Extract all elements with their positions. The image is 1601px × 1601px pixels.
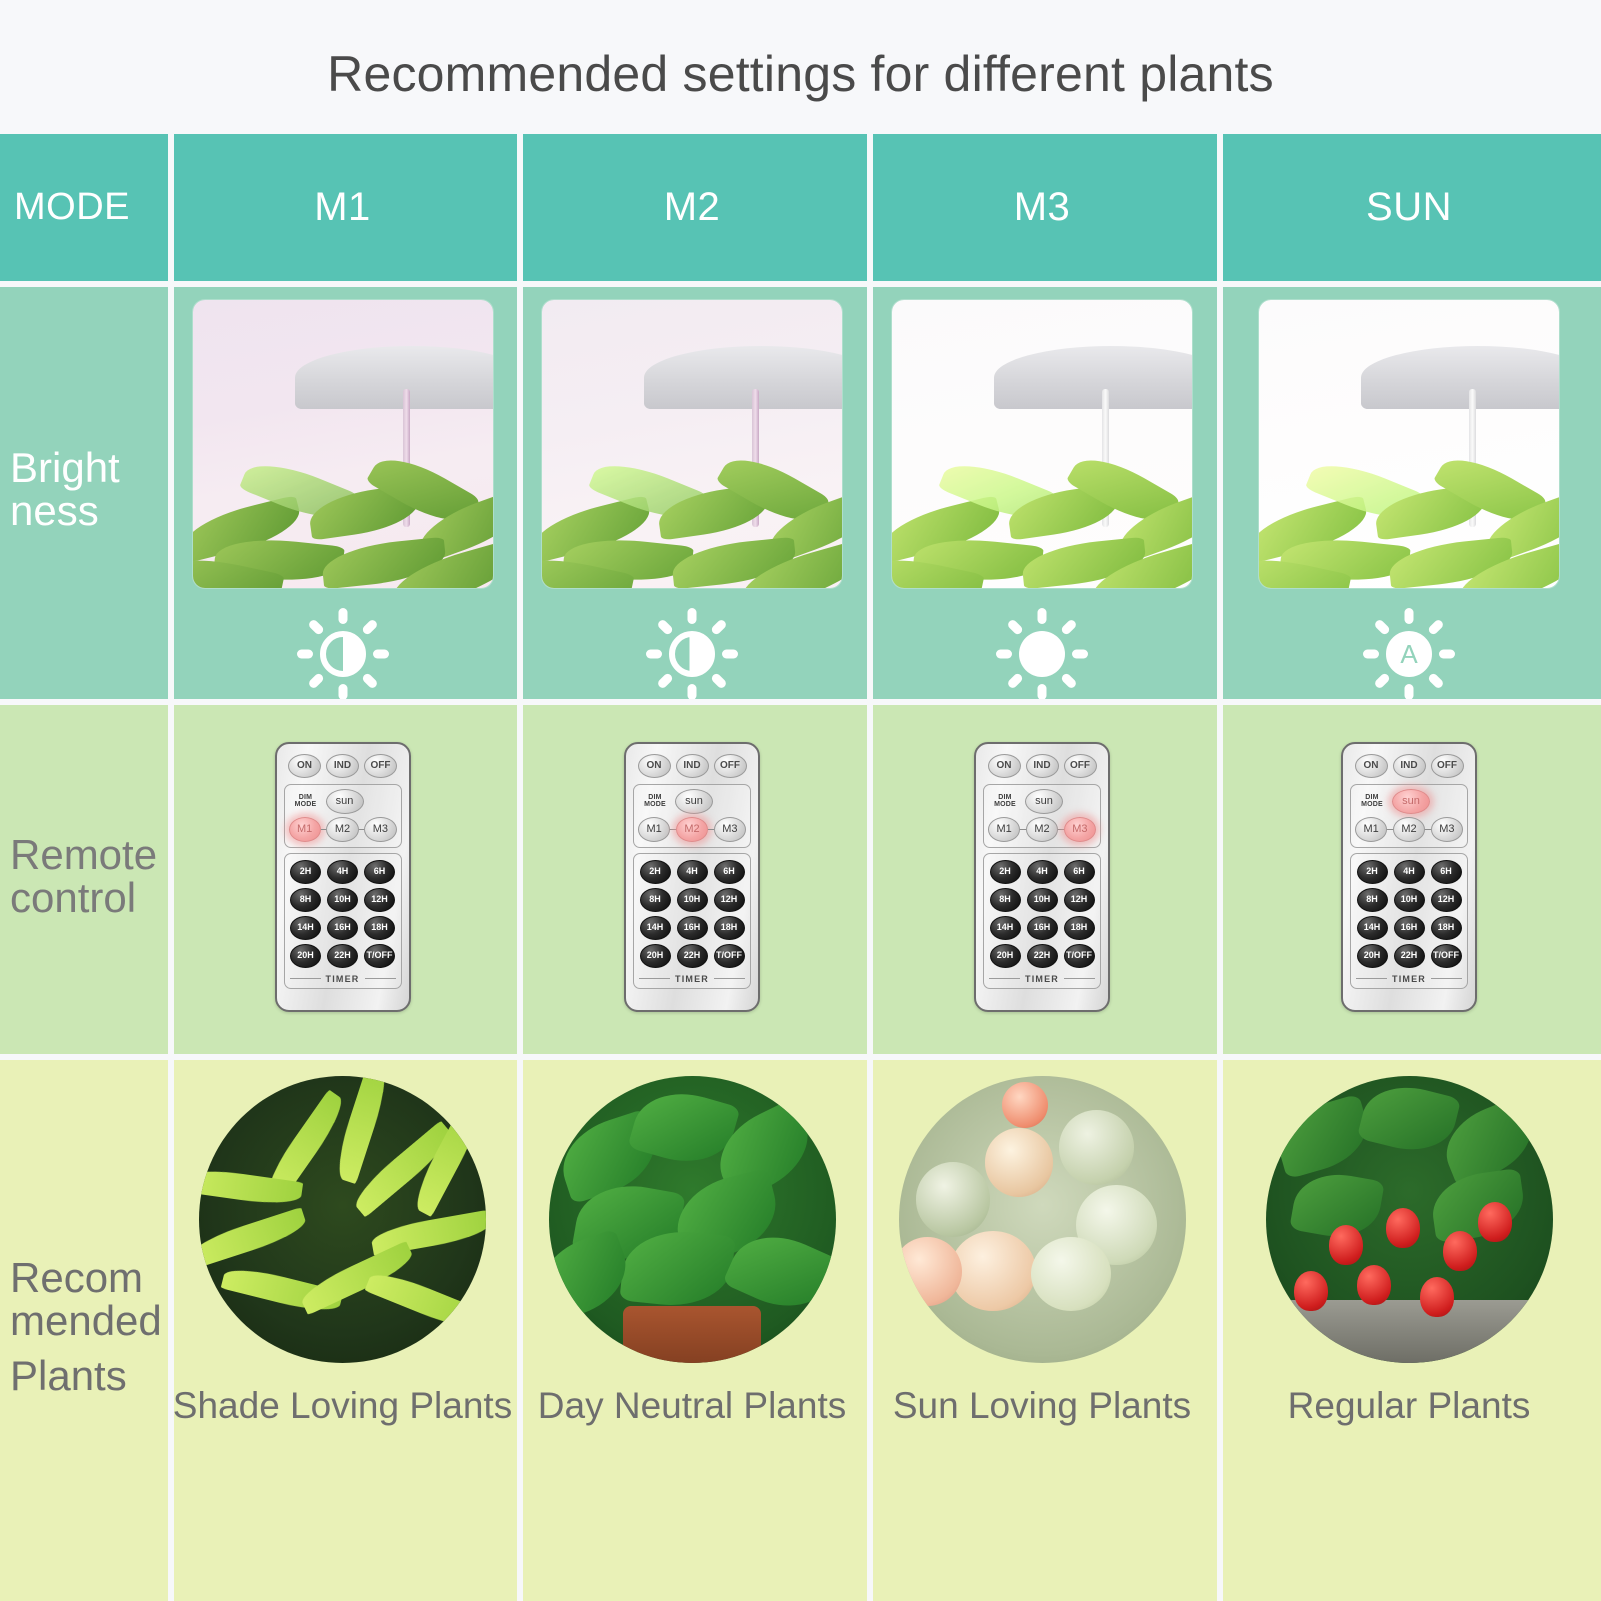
- settings-table: MODE M1 M2 M3 SUN Bright ness: [0, 134, 1601, 1601]
- remote-cell-m2: ON IND OFF DIM MODE sun M: [517, 699, 867, 1054]
- brightness-full-sun-icon: [994, 610, 1090, 699]
- remote-label-line-2: control: [10, 877, 157, 920]
- remote-m3-button[interactable]: M3: [364, 817, 396, 842]
- grow-light-photo-m2: [542, 300, 842, 588]
- timer-8h-button[interactable]: 8H: [1357, 888, 1388, 912]
- brightness-two-thirds-sun-icon: [644, 610, 740, 699]
- timer-10h-button[interactable]: 10H: [1394, 888, 1425, 912]
- timer-8h-button[interactable]: 8H: [640, 888, 671, 912]
- timer-20h-button[interactable]: 20H: [640, 944, 671, 968]
- plant-caption-m1: Shade Loving Plants: [173, 1385, 512, 1427]
- remote-control-sun[interactable]: ON IND OFF DIM MODE sun M: [1341, 742, 1477, 1012]
- timer-8h-button[interactable]: 8H: [990, 888, 1021, 912]
- brightness-cell-m1: [168, 281, 517, 699]
- column-separator: [168, 134, 174, 1601]
- plants-cell-sun: Regular Plants: [1217, 1054, 1601, 1601]
- brightness-cell-sun: A: [1217, 281, 1601, 699]
- remote-m1-button[interactable]: M1: [289, 817, 321, 842]
- remote-m1-button[interactable]: M1: [1355, 817, 1387, 842]
- timer-20h-button[interactable]: 20H: [290, 944, 321, 968]
- timer-12h-button[interactable]: 12H: [1431, 888, 1462, 912]
- timer-toff-button[interactable]: T/OFF: [1064, 944, 1095, 968]
- timer-label: TIMER: [675, 974, 709, 984]
- remote-mode-box: DIM MODE sun M1 M2 M3: [983, 784, 1101, 848]
- timer-18h-button[interactable]: 18H: [1431, 916, 1462, 940]
- remote-timer-box: 2H 4H 6H 8H 10H 12H 14H 16H 18H: [633, 853, 751, 989]
- strawberries-photo: [1266, 1076, 1553, 1363]
- row-separator: [0, 281, 1601, 287]
- header-cell-m2: M2: [517, 134, 867, 281]
- lamp-shade-icon: [295, 346, 493, 409]
- remote-sun-button[interactable]: sun: [1025, 789, 1063, 814]
- timer-16h-button[interactable]: 16H: [677, 916, 708, 940]
- remote-ind-button[interactable]: IND: [1393, 754, 1426, 778]
- timer-6h-button[interactable]: 6H: [714, 860, 745, 884]
- timer-22h-button[interactable]: 22H: [677, 944, 708, 968]
- timer-8h-button[interactable]: 8H: [290, 888, 321, 912]
- remote-m2-button[interactable]: M2: [1393, 817, 1425, 842]
- remote-m3-button[interactable]: M3: [714, 817, 746, 842]
- timer-18h-button[interactable]: 18H: [1064, 916, 1095, 940]
- grow-light-photo-m1: [193, 300, 493, 588]
- remote-off-button[interactable]: OFF: [714, 754, 747, 778]
- remote-m3-button[interactable]: M3: [1431, 817, 1463, 842]
- header-cell-m1: M1: [168, 134, 517, 281]
- header-cell-mode: MODE: [0, 134, 168, 281]
- remote-sun-button[interactable]: sun: [675, 789, 713, 814]
- timer-10h-button[interactable]: 10H: [1027, 888, 1058, 912]
- remote-sun-button[interactable]: sun: [326, 789, 364, 814]
- timer-toff-button[interactable]: T/OFF: [364, 944, 395, 968]
- pothos-photo: [549, 1076, 836, 1363]
- plants-cell-m2: Day Neutral Plants: [517, 1054, 867, 1601]
- timer-4h-button[interactable]: 4H: [327, 860, 358, 884]
- timer-12h-button[interactable]: 12H: [364, 888, 395, 912]
- remote-m3-button[interactable]: M3: [1064, 817, 1096, 842]
- remote-on-button[interactable]: ON: [638, 754, 671, 778]
- remote-mode-box: DIM MODE sun M1 M2 M3: [633, 784, 751, 848]
- row-separator: [0, 699, 1601, 705]
- succulents-photo: [899, 1076, 1186, 1363]
- header-cell-m3: M3: [867, 134, 1217, 281]
- dim-mode-label: DIM MODE: [638, 794, 672, 809]
- grow-light-photo-m3: [892, 300, 1192, 588]
- timer-18h-button[interactable]: 18H: [714, 916, 745, 940]
- remote-on-button[interactable]: ON: [988, 754, 1021, 778]
- column-separator: [867, 134, 873, 1601]
- remote-control-m2[interactable]: ON IND OFF DIM MODE sun M: [624, 742, 760, 1012]
- timer-18h-button[interactable]: 18H: [364, 916, 395, 940]
- page-title: Recommended settings for different plant…: [0, 45, 1601, 103]
- remote-control-m1[interactable]: ON IND OFF DIM MODE sun M: [275, 742, 411, 1012]
- remote-m1-button[interactable]: M1: [638, 817, 670, 842]
- infographic-page: Recommended settings for different plant…: [0, 0, 1601, 1601]
- timer-toff-button[interactable]: T/OFF: [714, 944, 745, 968]
- ferns-photo: [199, 1076, 486, 1363]
- timer-14h-button[interactable]: 14H: [290, 916, 321, 940]
- auto-letter: A: [1386, 631, 1432, 677]
- remote-timer-box: 2H 4H 6H 8H 10H 12H 14H 16H 18H: [1350, 853, 1468, 989]
- timer-10h-button[interactable]: 10H: [677, 888, 708, 912]
- timer-toff-button[interactable]: T/OFF: [1431, 944, 1462, 968]
- timer-14h-button[interactable]: 14H: [640, 916, 671, 940]
- brightness-auto-sun-icon: A: [1361, 610, 1457, 699]
- timer-4h-button[interactable]: 4H: [1027, 860, 1058, 884]
- timer-12h-button[interactable]: 12H: [1064, 888, 1095, 912]
- header-m2-label: M2: [664, 185, 721, 230]
- lamp-shade-icon: [994, 346, 1192, 409]
- remote-mode-box: DIM MODE sun M1 M2 M3: [284, 784, 402, 848]
- timer-22h-button[interactable]: 22H: [1394, 944, 1425, 968]
- column-separator: [517, 134, 523, 1601]
- timer-12h-button[interactable]: 12H: [714, 888, 745, 912]
- header-mode-label: MODE: [0, 186, 130, 229]
- remote-mode-box: DIM MODE sun M1 M2 M3: [1350, 784, 1468, 848]
- brightness-half-sun-icon: [295, 610, 391, 699]
- remote-timer-box: 2H 4H 6H 8H 10H 12H 14H 16H 18H: [284, 853, 402, 989]
- remote-off-button[interactable]: OFF: [364, 754, 397, 778]
- remote-label-line-1: Remote: [10, 834, 157, 877]
- timer-6h-button[interactable]: 6H: [364, 860, 395, 884]
- remote-on-button[interactable]: ON: [288, 754, 321, 778]
- timer-20h-button[interactable]: 20H: [1357, 944, 1388, 968]
- timer-16h-button[interactable]: 16H: [1027, 916, 1058, 940]
- grow-light-photo-sun: [1259, 300, 1559, 588]
- remote-sun-button[interactable]: sun: [1392, 789, 1430, 814]
- remote-ind-button[interactable]: IND: [676, 754, 709, 778]
- header-m1-label: M1: [314, 185, 371, 230]
- timer-label: TIMER: [1025, 974, 1059, 984]
- timer-2h-button[interactable]: 2H: [640, 860, 671, 884]
- timer-2h-button[interactable]: 2H: [1357, 860, 1388, 884]
- remote-m2-button[interactable]: M2: [676, 817, 708, 842]
- timer-10h-button[interactable]: 10H: [327, 888, 358, 912]
- dim-mode-label: DIM MODE: [289, 794, 323, 809]
- brightness-label-line-2: ness: [10, 490, 120, 533]
- remote-ind-button[interactable]: IND: [326, 754, 359, 778]
- timer-14h-button[interactable]: 14H: [1357, 916, 1388, 940]
- plants-label-line-3: Plants: [10, 1355, 162, 1398]
- timer-2h-button[interactable]: 2H: [990, 860, 1021, 884]
- brightness-cell-m3: [867, 281, 1217, 699]
- timer-label: TIMER: [326, 974, 360, 984]
- remote-cell-m3: ON IND OFF DIM MODE sun M: [867, 699, 1217, 1054]
- remote-cell-sun: ON IND OFF DIM MODE sun M: [1217, 699, 1601, 1054]
- remote-off-button[interactable]: OFF: [1431, 754, 1464, 778]
- timer-label: TIMER: [1392, 974, 1426, 984]
- remote-m1-button[interactable]: M1: [988, 817, 1020, 842]
- row-label-remote-control: Remote control: [0, 699, 168, 1054]
- timer-16h-button[interactable]: 16H: [1394, 916, 1425, 940]
- header-sun-label: SUN: [1366, 185, 1452, 230]
- dim-mode-label: DIM MODE: [988, 794, 1022, 809]
- row-label-recommended-plants: Recom mended Plants: [0, 1054, 168, 1601]
- row-separator: [0, 1054, 1601, 1060]
- lamp-shade-icon: [1361, 346, 1559, 409]
- timer-6h-button[interactable]: 6H: [1431, 860, 1462, 884]
- remote-off-button[interactable]: OFF: [1064, 754, 1097, 778]
- timer-22h-button[interactable]: 22H: [327, 944, 358, 968]
- timer-22h-button[interactable]: 22H: [1027, 944, 1058, 968]
- plants-label-line-1: Recom: [10, 1257, 162, 1300]
- timer-4h-button[interactable]: 4H: [677, 860, 708, 884]
- timer-4h-button[interactable]: 4H: [1394, 860, 1425, 884]
- remote-cell-m1: ON IND OFF DIM MODE sun M: [168, 699, 517, 1054]
- remote-timer-box: 2H 4H 6H 8H 10H 12H 14H 16H 18H: [983, 853, 1101, 989]
- remote-m2-button[interactable]: M2: [326, 817, 358, 842]
- plant-caption-m3: Sun Loving Plants: [893, 1385, 1191, 1427]
- timer-2h-button[interactable]: 2H: [290, 860, 321, 884]
- timer-16h-button[interactable]: 16H: [327, 916, 358, 940]
- remote-ind-button[interactable]: IND: [1026, 754, 1059, 778]
- remote-m2-button[interactable]: M2: [1026, 817, 1058, 842]
- lamp-shade-icon: [644, 346, 842, 409]
- timer-14h-button[interactable]: 14H: [990, 916, 1021, 940]
- plant-caption-sun: Regular Plants: [1288, 1385, 1531, 1427]
- timer-6h-button[interactable]: 6H: [1064, 860, 1095, 884]
- header-m3-label: M3: [1014, 185, 1071, 230]
- remote-control-m3[interactable]: ON IND OFF DIM MODE sun M: [974, 742, 1110, 1012]
- plants-cell-m3: Sun Loving Plants: [867, 1054, 1217, 1601]
- timer-20h-button[interactable]: 20H: [990, 944, 1021, 968]
- column-separator: [1217, 134, 1223, 1601]
- plants-cell-m1: Shade Loving Plants: [168, 1054, 517, 1601]
- row-label-brightness: Bright ness: [0, 281, 168, 699]
- header-cell-sun: SUN: [1217, 134, 1601, 281]
- brightness-label-line-1: Bright: [10, 447, 120, 490]
- remote-on-button[interactable]: ON: [1355, 754, 1388, 778]
- plant-caption-m2: Day Neutral Plants: [538, 1385, 846, 1427]
- dim-mode-label: DIM MODE: [1355, 794, 1389, 809]
- plants-label-line-2: mended: [10, 1300, 162, 1343]
- brightness-cell-m2: [517, 281, 867, 699]
